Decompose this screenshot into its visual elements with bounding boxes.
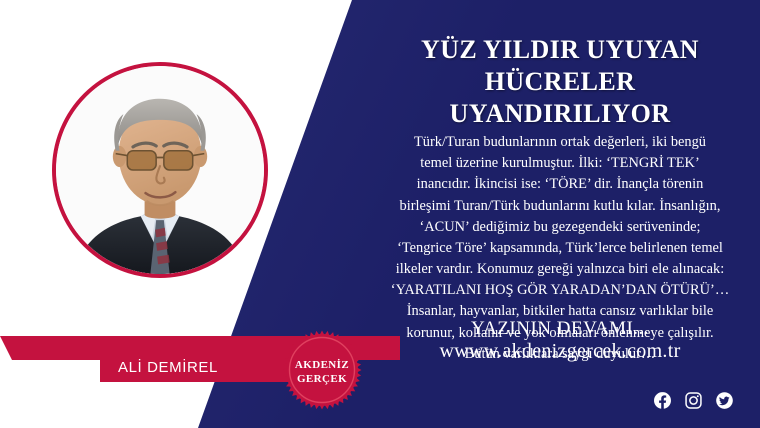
excerpt-line: ‘ACUN’ dediğimiz bu gezegendeki serüveni…	[364, 217, 756, 238]
excerpt-line: temel üzerine kurulmuştur. İlki: ‘TENGRİ…	[364, 153, 756, 174]
headline-line-1: YÜZ YILDIR UYUYAN	[372, 34, 748, 66]
excerpt-line: ilkeler vardır. Konumuz gereği yalnızca …	[364, 259, 756, 280]
website-url[interactable]: wwww.akdenizgercek.com.tr	[364, 340, 756, 363]
seal-graphic: AKDENİZ GERÇEK	[282, 330, 362, 410]
facebook-icon[interactable]	[653, 391, 672, 410]
akdeniz-gercek-seal: AKDENİZ GERÇEK	[282, 330, 362, 410]
headline-line-2: HÜCRELER	[372, 66, 748, 98]
author-name: ALİ DEMİREL	[118, 359, 218, 376]
seal-line-2: GERÇEK	[297, 373, 347, 385]
author-portrait	[52, 62, 268, 278]
excerpt-line: ‘Tengrice Töre’ kapsamında, Türk’lerce b…	[364, 238, 756, 259]
instagram-icon[interactable]	[684, 391, 703, 410]
seal-line-1: AKDENİZ	[295, 359, 349, 371]
headline-line-3: UYANDIRILIYOR	[372, 98, 748, 130]
read-more-label[interactable]: YAZININ DEVAMI...	[364, 318, 756, 340]
social-links	[653, 391, 734, 410]
twitter-icon[interactable]	[715, 391, 734, 410]
excerpt-line: birleşimi Turan/Türk budunlarını kutlu k…	[364, 196, 756, 217]
article-promo-banner: ALİ DEMİREL AKDENİZ GERÇEK YÜZ YILDIR UY…	[0, 0, 760, 428]
page-title: YÜZ YILDIR UYUYAN HÜCRELER UYANDIRILIYOR	[372, 34, 748, 131]
excerpt-line: ‘YARATILANI HOŞ GÖR YARADAN’DAN ÖTÜRÜ’…	[364, 280, 756, 301]
excerpt-line: Türk/Turan budunlarının ortak değerleri,…	[364, 132, 756, 153]
excerpt-line: inancıdır. İkincisi ise: ‘TÖRE’ dir. İna…	[364, 174, 756, 195]
portrait-illustration	[56, 66, 264, 274]
